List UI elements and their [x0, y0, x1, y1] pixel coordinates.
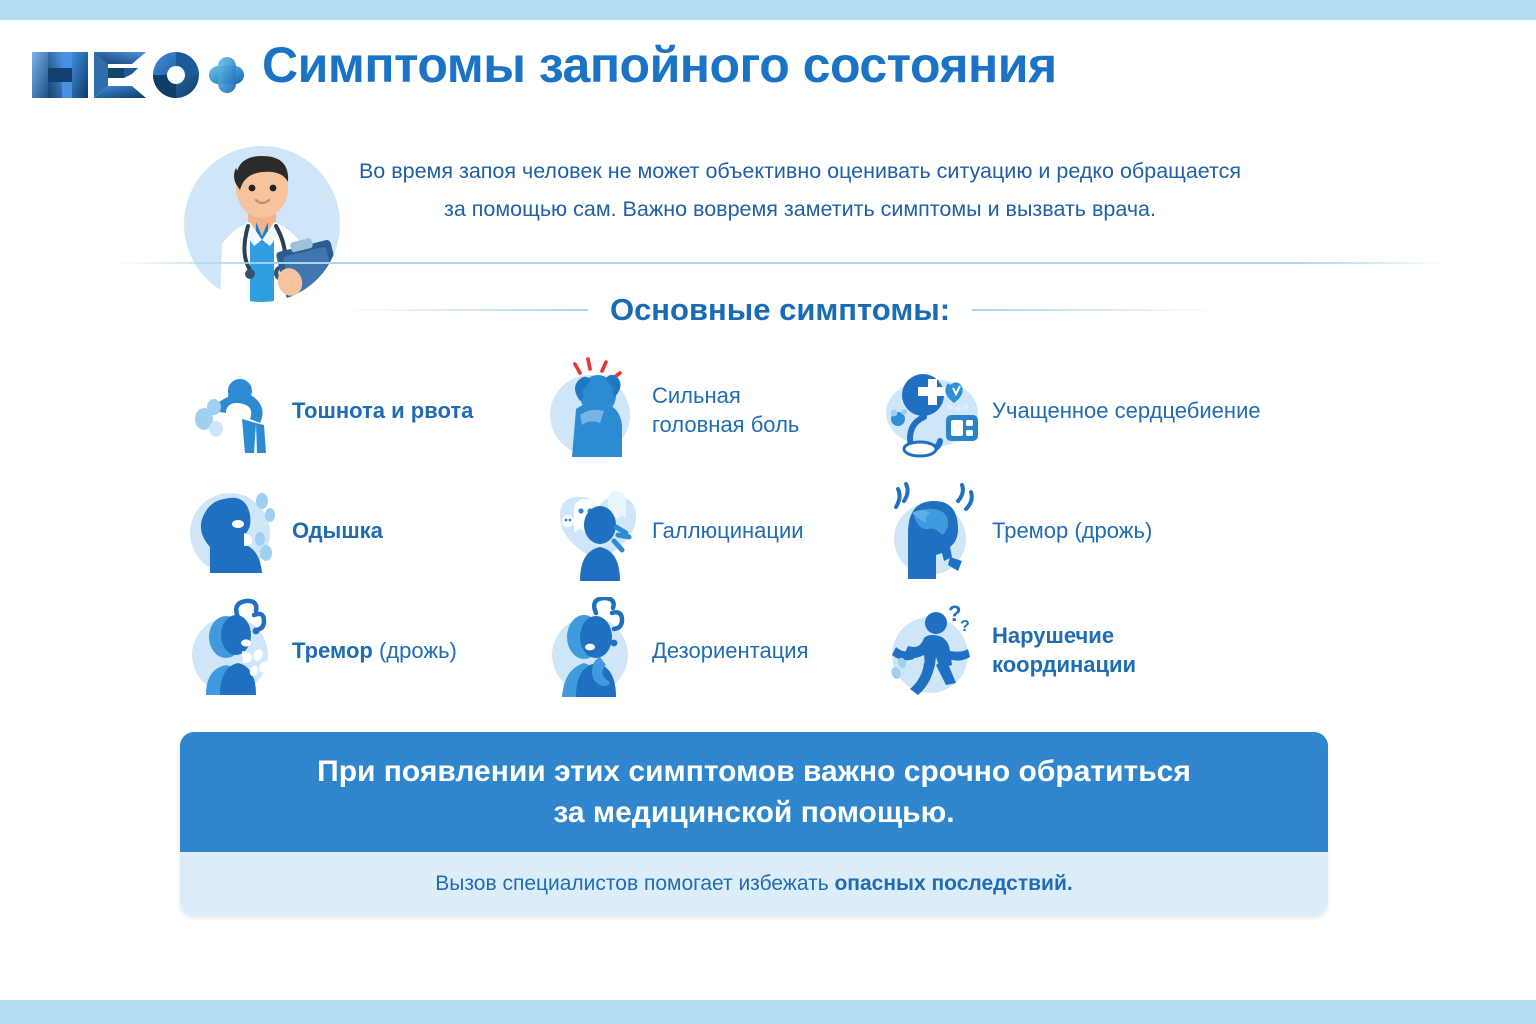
vomiting-icon — [180, 357, 286, 463]
tremor-head-icon — [880, 477, 986, 583]
intro-paragraph: Во время запоя человек не может объектив… — [310, 152, 1290, 228]
section-heading: Основные симптомы: — [340, 292, 1220, 328]
heartbeat-icon — [880, 357, 986, 463]
page-title: Симптомы запойного состояния — [262, 36, 1057, 94]
top-accent-band — [0, 0, 1536, 20]
header: Симптомы запойного состояния — [0, 38, 1536, 118]
symptom-item: Учащенное сердцебиение — [880, 350, 1340, 470]
symptom-grid: Тошнота и рвота Сильная головная — [180, 350, 1340, 710]
callout-line-1: При появлении этих симптомов важно срочн… — [317, 751, 1191, 792]
intro-line-1: Во время запоя человек не может объектив… — [310, 152, 1290, 190]
shortness-of-breath-icon — [180, 477, 286, 583]
intro-line-2: за помощью сам. Важно вовремя заметить с… — [310, 190, 1290, 228]
rule-left — [340, 309, 588, 311]
symptom-item: Тошнота и рвота — [180, 350, 540, 470]
symptom-label: Одышка — [292, 516, 383, 545]
symptom-label: Тошнота и рвота — [292, 396, 473, 425]
callout-footer-text: Вызов специалистов помогает избежать опа… — [435, 872, 1072, 896]
callout-line-2: за медицинской помощью. — [553, 792, 954, 833]
disorientation-icon — [540, 597, 646, 703]
symptom-item: Дезориентация — [540, 590, 880, 710]
section-title: Основные симптомы: — [610, 292, 950, 328]
symptom-item: Сильная головная боль — [540, 350, 880, 470]
bottom-accent-band — [0, 1000, 1536, 1024]
callout-box: При появлении этих симптомов важно срочн… — [180, 732, 1328, 916]
symptom-label: Нарушечие координации — [992, 621, 1136, 679]
symptom-label: Дезориентация — [652, 636, 809, 665]
coordination-icon: ? ? — [880, 597, 986, 703]
symptom-label: Тремор (дрожь) — [992, 516, 1152, 545]
symptom-item: Тремор (дрожь) — [880, 470, 1340, 590]
symptom-item: Тремор (дрожь) — [180, 590, 540, 710]
tremor-sweat-icon — [180, 597, 286, 703]
headache-icon — [540, 357, 646, 463]
header-divider — [110, 262, 1450, 264]
symptom-item: Одышка — [180, 470, 540, 590]
svg-text:?: ? — [960, 618, 970, 635]
rule-right — [972, 309, 1220, 311]
symptom-label: Учащенное сердцебиение — [992, 396, 1261, 425]
symptom-label: Сильная головная боль — [652, 381, 799, 439]
symptom-label: Галлюцинации — [652, 516, 804, 545]
hallucinations-icon — [540, 477, 646, 583]
symptom-item: Галлюцинации — [540, 470, 880, 590]
callout-primary: При появлении этих симптомов важно срочн… — [180, 732, 1328, 852]
symptom-item: ? ? Нарушечие координации — [880, 590, 1340, 710]
neo-plus-logo-icon — [28, 44, 244, 106]
callout-footer: Вызов специалистов помогает избежать опа… — [180, 852, 1328, 916]
symptom-label: Тремор (дрожь) — [292, 636, 457, 665]
